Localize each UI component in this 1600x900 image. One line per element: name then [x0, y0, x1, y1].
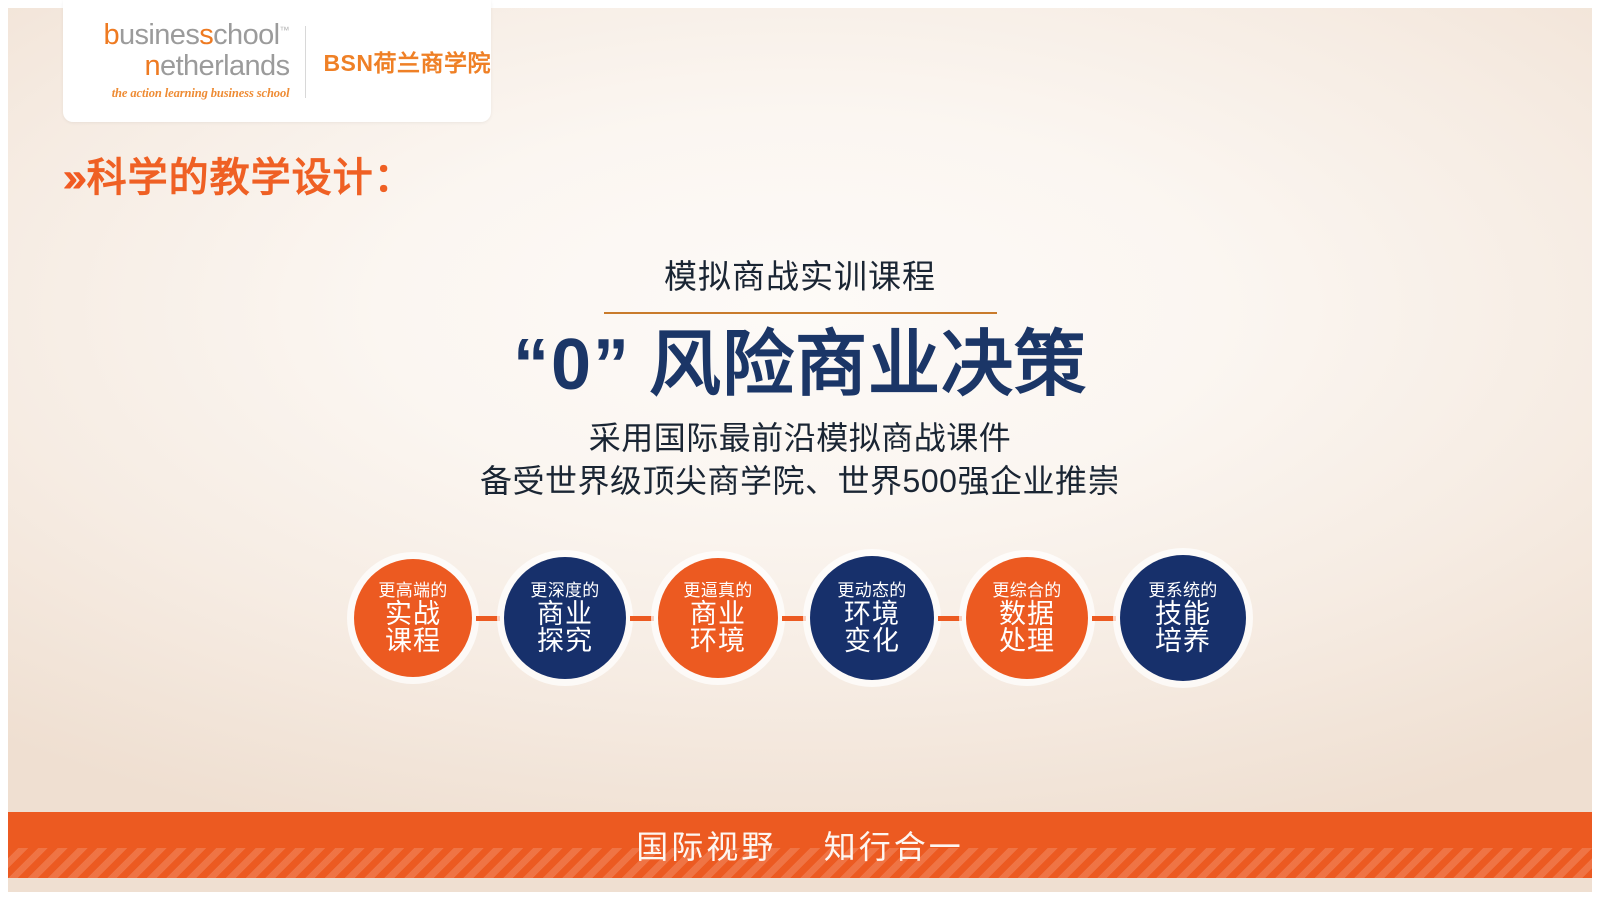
- process-node[interactable]: 更高端的实战 课程: [354, 559, 472, 677]
- process-node-label: 更综合的: [992, 582, 1061, 599]
- process-node-title: 环境 变化: [844, 601, 900, 655]
- brand-logo-tagline: the action learning business school: [84, 86, 289, 101]
- logo-letter-n: n: [145, 50, 161, 82]
- process-node-label: 更动态的: [837, 582, 906, 599]
- process-node-row: 更高端的实战 课程更深度的商业 探究更逼真的商业 环境更动态的环境 变化更综合的…: [0, 543, 1600, 693]
- hero-block: 模拟商战实训课程 “0”风险商业决策 采用国际最前沿模拟商战课件 备受世界级顶尖…: [0, 258, 1600, 504]
- process-connector: [1092, 616, 1116, 621]
- logo-text-chool: chool: [213, 19, 279, 51]
- footer-bar: 国际视野 知行合一: [8, 812, 1592, 878]
- double-chevron-right-icon: ››: [62, 157, 80, 199]
- hero-subtitle-line-2: 备受世界级顶尖商学院、世界500强企业推崇: [0, 460, 1600, 503]
- logo-letter-b: b: [103, 19, 119, 51]
- brand-logo-chinese-name: BSN荷兰商学院: [323, 44, 491, 78]
- process-node-label: 更深度的: [530, 582, 599, 599]
- process-node[interactable]: 更系统的技能 培养: [1120, 555, 1246, 681]
- hero-title-rest: 风险商业决策: [649, 325, 1087, 405]
- brand-logo-wordmark: businesschool™ netherlands the action le…: [84, 21, 289, 100]
- process-node[interactable]: 更综合的数据 处理: [966, 557, 1088, 679]
- process-node-label: 更逼真的: [683, 582, 752, 599]
- process-node[interactable]: 更动态的环境 变化: [810, 556, 934, 680]
- hero-title-zero: “0”: [513, 325, 631, 405]
- process-connector: [630, 616, 654, 621]
- hero-divider-rule: [604, 312, 997, 314]
- brand-logo-line-businessschool: businesschool™: [84, 21, 289, 51]
- hero-title: “0”风险商业决策: [0, 326, 1600, 405]
- hero-subtitle-line-1: 采用国际最前沿模拟商战课件: [0, 417, 1600, 460]
- process-node-title: 商业 探究: [537, 601, 593, 655]
- process-node-label: 更高端的: [378, 582, 447, 599]
- logo-letter-s: s: [199, 19, 213, 51]
- section-heading-title: 科学的教学设计：: [87, 158, 415, 198]
- process-node-title: 数据 处理: [999, 601, 1055, 655]
- process-connector: [782, 616, 806, 621]
- trademark-icon: ™: [279, 26, 289, 37]
- process-node[interactable]: 更逼真的商业 环境: [658, 558, 778, 678]
- logo-vertical-divider: [305, 26, 306, 98]
- process-node-title: 实战 课程: [385, 601, 441, 655]
- hero-kicker: 模拟商战实训课程: [0, 258, 1600, 296]
- process-node-title: 商业 环境: [690, 601, 746, 655]
- logo-text-etherlands: etherlands: [160, 50, 289, 82]
- brand-logo-card: businesschool™ netherlands the action le…: [63, 0, 491, 122]
- process-node[interactable]: 更深度的商业 探究: [504, 557, 626, 679]
- hero-subtitle: 采用国际最前沿模拟商战课件 备受世界级顶尖商学院、世界500强企业推崇: [0, 417, 1600, 503]
- section-heading: ›› 科学的教学设计：: [62, 158, 415, 198]
- footer-slogan: 国际视野 知行合一: [636, 822, 964, 868]
- process-node-label: 更系统的: [1148, 582, 1217, 599]
- brand-logo-line-netherlands: netherlands: [84, 52, 289, 82]
- logo-text-usines: usines: [119, 19, 199, 51]
- slide: businesschool™ netherlands the action le…: [0, 0, 1600, 900]
- process-node-title: 技能 培养: [1155, 601, 1211, 655]
- process-connector: [938, 616, 962, 621]
- process-connector: [476, 616, 500, 621]
